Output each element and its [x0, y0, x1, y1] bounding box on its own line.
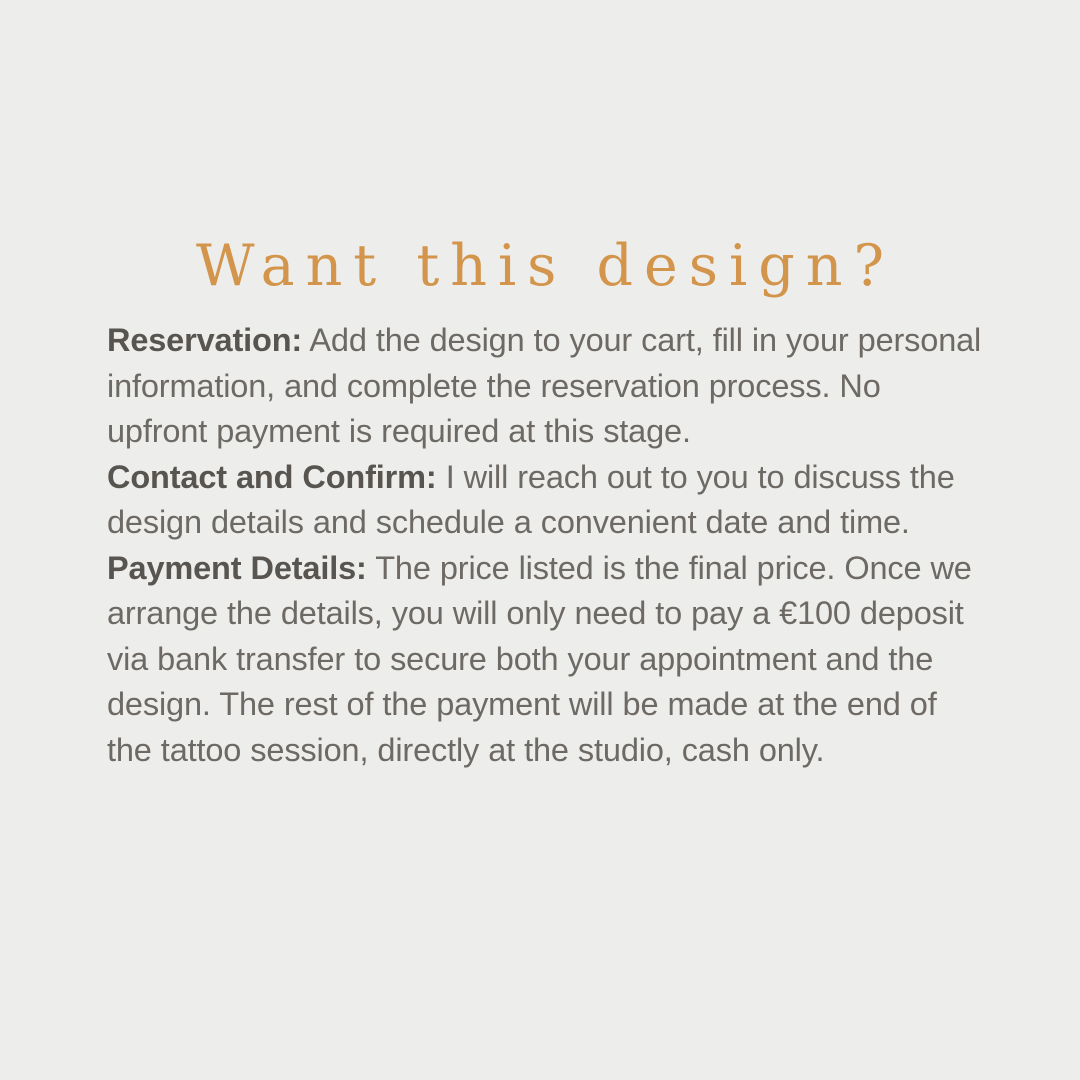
- section-payment-details: Payment Details: The price listed is the…: [107, 546, 987, 774]
- section-contact-and-confirm: Contact and Confirm: I will reach out to…: [107, 455, 987, 546]
- section-reservation: Reservation: Add the design to your cart…: [107, 318, 987, 455]
- promo-card: Want this design? Reservation: Add the d…: [0, 0, 1080, 1080]
- section-payment-details-label: Payment Details:: [107, 550, 367, 586]
- section-contact-and-confirm-label: Contact and Confirm:: [107, 459, 437, 495]
- section-reservation-label: Reservation:: [107, 322, 302, 358]
- page-title: Want this design?: [0, 234, 1080, 300]
- info-text-block: Reservation: Add the design to your cart…: [107, 318, 987, 773]
